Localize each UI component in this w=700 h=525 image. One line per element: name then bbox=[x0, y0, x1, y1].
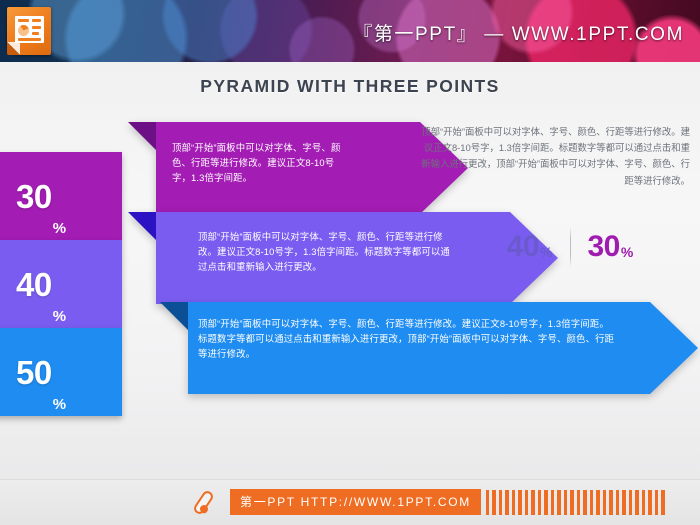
stat-value-2: 30 bbox=[588, 232, 620, 262]
stat-value-1: 40 bbox=[507, 232, 539, 262]
percent-plate-2[interactable]: 40 % bbox=[0, 240, 122, 328]
page-title: PYRAMID WITH THREE POINTS bbox=[0, 76, 700, 97]
percent-plate-3[interactable]: 50 % bbox=[0, 328, 122, 416]
percent-symbol-1: % bbox=[53, 220, 66, 240]
arrow-text-1: 顶部“开始”面板中可以对字体、字号、颜色、行距等进行修改。建议正文8-10号字，… bbox=[172, 140, 348, 186]
arrow-banner-1[interactable]: 顶部“开始”面板中可以对字体、字号、颜色、行距等进行修改。建议正文8-10号字，… bbox=[128, 122, 468, 214]
percent-value-2: 40 bbox=[16, 268, 52, 301]
footer-stripes bbox=[483, 490, 665, 515]
stat-item-2: 30 % bbox=[571, 232, 651, 262]
powerpoint-logo-icon bbox=[7, 7, 51, 55]
slide-canvas: 『第一PPT』 — WWW.1PPT.COM PYRAMID WITH THRE… bbox=[0, 0, 700, 525]
footer-label: 第一PPT HTTP://WWW.1PPT.COM bbox=[230, 489, 481, 515]
percent-symbol-3: % bbox=[53, 396, 66, 416]
stat-symbol-1: % bbox=[540, 244, 552, 262]
stat-item-1: 40 % bbox=[490, 232, 570, 262]
arrow-text-2: 顶部“开始”面板中可以对字体、字号、颜色、行距等进行修改。建议正文8-10号字，… bbox=[198, 229, 458, 275]
arrow-text-3: 顶部“开始”面板中可以对字体、字号、颜色、行距等进行修改。建议正文8-10号字，… bbox=[198, 316, 618, 362]
footer-bar: 第一PPT HTTP://WWW.1PPT.COM bbox=[0, 479, 700, 525]
percent-value-3: 50 bbox=[16, 356, 52, 389]
pencil-eraser-icon bbox=[194, 488, 224, 516]
header-banner: 『第一PPT』 — WWW.1PPT.COM bbox=[0, 0, 700, 62]
right-paragraph: 顶部“开始”面板中可以对字体、字号、颜色、行距等进行修改。建议正文8-10号字，… bbox=[418, 124, 690, 189]
percent-plate-1[interactable]: 30 % bbox=[0, 152, 122, 240]
arrow-banner-3[interactable]: 顶部“开始”面板中可以对字体、字号、颜色、行距等进行修改。建议正文8-10号字，… bbox=[160, 302, 698, 394]
percent-symbol-2: % bbox=[53, 308, 66, 328]
header-title: 『第一PPT』 — WWW.1PPT.COM bbox=[353, 19, 684, 46]
percent-value-1: 30 bbox=[16, 180, 52, 213]
stat-symbol-2: % bbox=[621, 244, 633, 262]
right-stats-group: 40 % 30 % bbox=[470, 224, 670, 270]
